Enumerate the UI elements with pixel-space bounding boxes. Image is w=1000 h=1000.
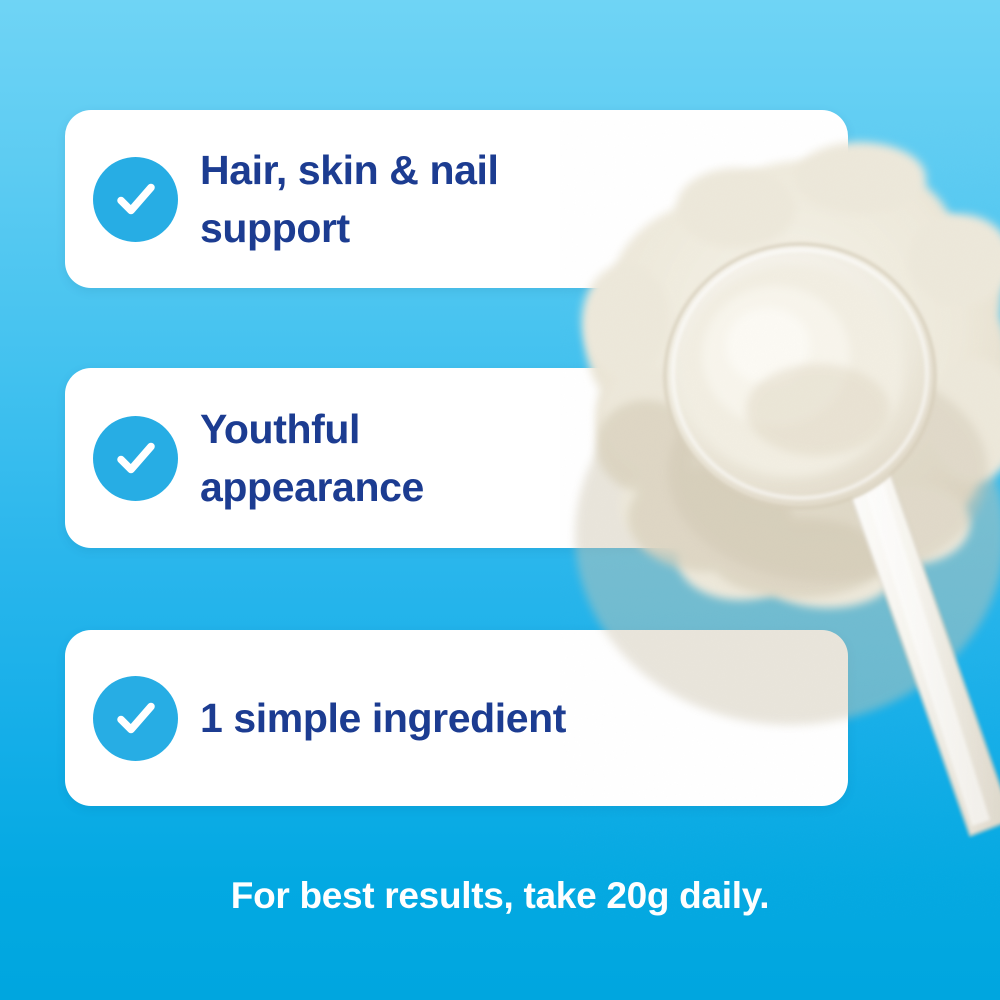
benefit-label: Youthful appearance <box>200 400 424 516</box>
benefit-label: 1 simple ingredient <box>200 689 566 747</box>
benefit-label: Hair, skin & nail support <box>200 141 499 257</box>
check-icon <box>93 676 178 761</box>
check-icon <box>93 157 178 242</box>
benefit-card-youthful-appearance: Youthful appearance <box>65 368 848 548</box>
benefit-card-hair-skin-nail-support: Hair, skin & nail support <box>65 110 848 288</box>
benefit-card-one-simple-ingredient: 1 simple ingredient <box>65 630 848 806</box>
product-benefits-graphic: Hair, skin & nail support Youthful appea… <box>0 0 1000 1000</box>
check-icon <box>93 416 178 501</box>
footer-caption: For best results, take 20g daily. <box>0 875 1000 917</box>
